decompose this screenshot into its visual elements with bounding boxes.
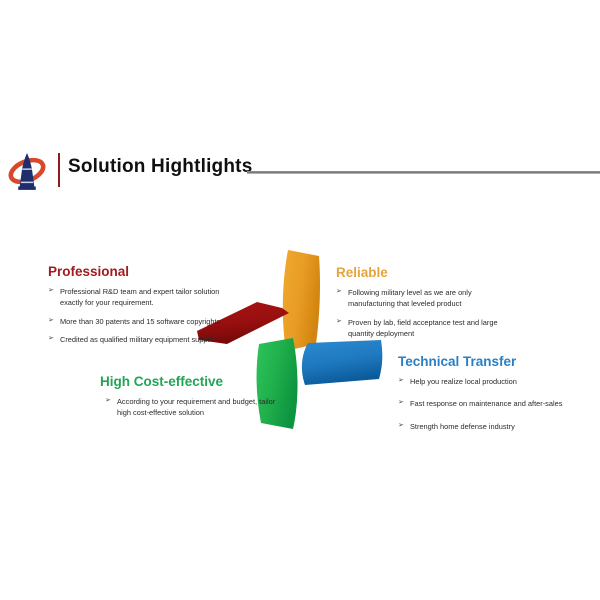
block-technical-transfer-bullets: ➢ Help you realize local production ➢ Fa… [398,376,588,432]
bullet-arrow-icon: ➢ [48,316,54,327]
pinwheel-petal-orange [283,250,320,351]
page-title: Solution Hightlights [68,156,252,178]
bullet-arrow-icon: ➢ [336,317,342,328]
list-item: ➢ Help you realize local production [398,376,588,387]
block-reliable-heading: Reliable [336,265,498,280]
list-item: ➢ Credited as qualified military equipme… [48,334,226,345]
block-technical-transfer-heading: Technical Transfer [398,354,588,369]
list-item-text: Credited as qualified military equipment… [60,335,217,344]
block-high-cost-effective-bullets: ➢ According to your requirement and budg… [100,396,280,419]
list-item: ➢ Strength home defense industry [398,421,588,432]
slide-canvas: Solution Hightlights [0,0,600,600]
list-item: ➢ According to your requirement and budg… [105,396,280,419]
list-item-text: Fast response on maintenance and after-s… [410,399,562,408]
list-item-text: According to your requirement and budget… [117,397,275,417]
block-reliable-bullets: ➢ Following military level as we are onl… [336,287,498,340]
bullet-arrow-icon: ➢ [336,287,342,298]
list-item-text: More than 30 patents and 15 software cop… [60,317,220,326]
list-item: ➢ Professional R&D team and expert tailo… [48,286,226,309]
list-item: ➢ More than 30 patents and 15 software c… [48,316,226,327]
list-item-text: Help you realize local production [410,377,517,386]
block-reliable: Reliable ➢ Following military level as w… [336,265,498,347]
list-item-text: Professional R&D team and expert tailor … [60,287,219,307]
bullet-arrow-icon: ➢ [48,334,54,345]
block-professional: Professional ➢ Professional R&D team and… [48,264,226,353]
header-rule [247,171,600,174]
list-item-text: Proven by lab, field acceptance test and… [348,318,498,338]
block-professional-bullets: ➢ Professional R&D team and expert tailo… [48,286,226,346]
bullet-arrow-icon: ➢ [398,421,404,432]
list-item: ➢ Fast response on maintenance and after… [398,398,588,409]
bullet-arrow-icon: ➢ [48,286,54,297]
title-divider [58,153,60,187]
block-professional-heading: Professional [48,264,226,279]
bullet-arrow-icon: ➢ [398,376,404,387]
bullet-arrow-icon: ➢ [398,398,404,409]
list-item: ➢ Following military level as we are onl… [336,287,498,310]
block-high-cost-effective: High Cost-effective ➢ According to your … [100,374,280,426]
rocket-orbit-logo-icon [8,150,46,194]
block-technical-transfer: Technical Transfer ➢ Help you realize lo… [398,354,588,443]
list-item-text: Strength home defense industry [410,422,515,431]
list-item: ➢ Proven by lab, field acceptance test a… [336,317,498,340]
bullet-arrow-icon: ➢ [105,396,111,407]
block-high-cost-effective-heading: High Cost-effective [100,374,280,389]
slide-header: Solution Hightlights [0,150,600,194]
list-item-text: Following military level as we are only … [348,288,472,308]
